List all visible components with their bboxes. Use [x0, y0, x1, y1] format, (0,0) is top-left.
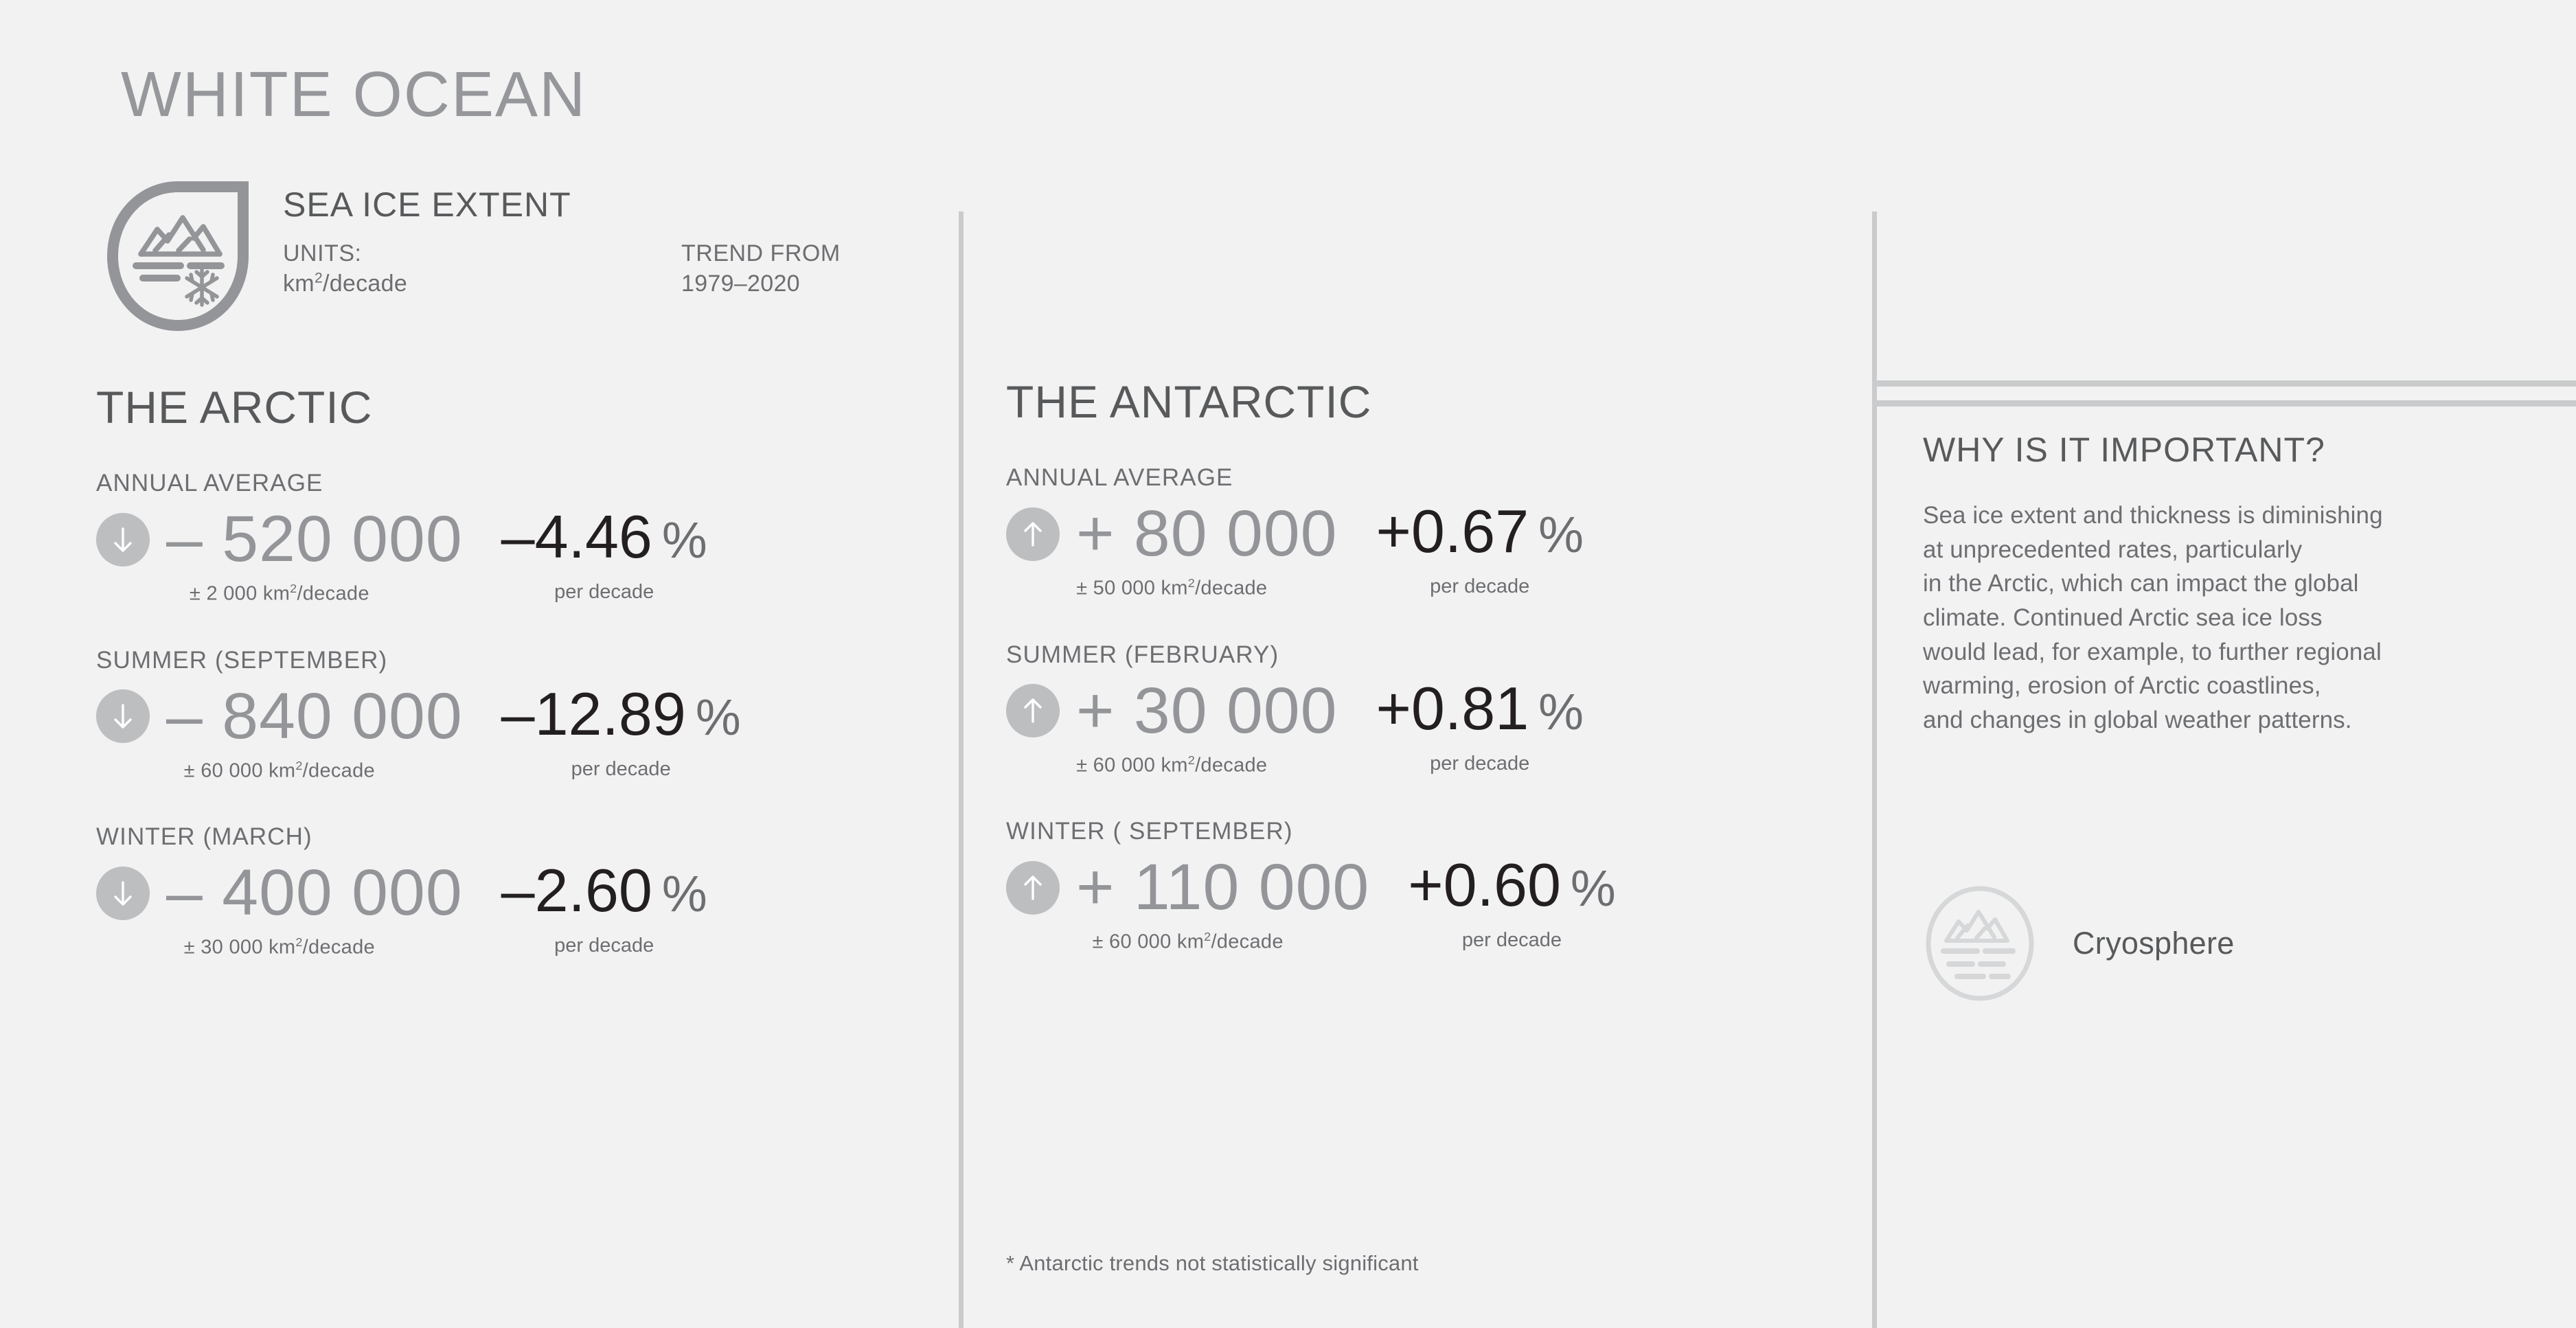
percent-note: per decade [554, 935, 654, 957]
stat-label: ANNUAL AVERAGE [1006, 464, 1837, 492]
info-panel-body: Sea ice extent and thickness is diminish… [1923, 499, 2514, 737]
percent-line: –12.89 % [501, 684, 741, 744]
percent-value: –2.60 [501, 860, 652, 921]
stat-value: – 840 000 [166, 684, 463, 749]
percent-value: +0.67 [1376, 501, 1529, 562]
stat-body: + 80 000 ± 50 000 km2/decade +0.67 % per… [1006, 501, 1837, 600]
margin-prefix: ± 2 000 km [190, 583, 290, 605]
stat-main: – 400 000 ± 30 000 km2/decade [96, 860, 463, 959]
stat-sign: – [166, 856, 203, 929]
percent-note: per decade [1430, 753, 1529, 775]
margin-prefix: ± 50 000 km [1076, 577, 1188, 599]
stat-sign: + [1076, 497, 1115, 570]
stat-percent: –4.46 % per decade [501, 507, 707, 604]
stat-number: 400 000 [222, 856, 462, 929]
stat-main-line: + 30 000 [1006, 678, 1337, 744]
metric-meta-row: UNITS: km2/decade TREND FROM 1979–2020 [283, 238, 956, 300]
margin-prefix: ± 60 000 km [1076, 754, 1188, 776]
arrow-up-icon [1006, 861, 1060, 915]
stat-number: 520 000 [222, 503, 462, 575]
info-panel: WHY IS IT IMPORTANT? Sea ice extent and … [1923, 433, 2514, 737]
stat-main-line: – 840 000 [96, 684, 463, 749]
stat-value: + 30 000 [1076, 678, 1337, 744]
horizontal-rule-bottom [1872, 400, 2576, 407]
percent-value: –12.89 [501, 684, 686, 744]
stat-body: – 520 000 ± 2 000 km2/decade –4.46 % per… [96, 507, 920, 606]
sea-ice-extent-icon [103, 180, 253, 332]
margin-suffix: /decade [1211, 931, 1283, 953]
percent-symbol: % [1571, 863, 1616, 914]
info-panel-title: WHY IS IT IMPORTANT? [1923, 433, 2514, 467]
cryosphere-badge: Cryosphere [1923, 884, 2235, 1003]
percent-symbol: % [696, 692, 741, 743]
units-value-prefix: km [283, 271, 315, 297]
stat-main-line: – 520 000 [96, 507, 463, 572]
stat-label: WINTER ( SEPTEMBER) [1006, 818, 1837, 845]
stat-margin: ± 50 000 km2/decade [1076, 576, 1267, 600]
info-line: at unprecedented rates, particularly [1923, 533, 2514, 567]
stat-percent: +0.81 % per decade [1376, 678, 1583, 775]
info-line: in the Arctic, which can impact the glob… [1923, 566, 2514, 601]
units-label: UNITS: [283, 238, 681, 269]
stat-sign: + [1076, 851, 1115, 924]
cryosphere-icon [1923, 884, 2037, 1003]
margin-sup: 2 [290, 582, 297, 595]
stat-sign: + [1076, 674, 1115, 747]
stat-percent: –12.89 % per decade [501, 684, 741, 781]
stat-label: WINTER (MARCH) [96, 823, 920, 851]
percent-symbol: % [662, 869, 707, 919]
margin-sup: 2 [295, 935, 302, 949]
stat-row: WINTER ( SEPTEMBER) + 110 000 ± 60 000 k… [1006, 818, 1837, 954]
percent-line: +0.60 % [1408, 855, 1615, 915]
footnote: * Antarctic trends not statistically sig… [1006, 1251, 1419, 1276]
margin-prefix: ± 30 000 km [184, 937, 296, 959]
stat-margin: ± 30 000 km2/decade [184, 935, 375, 959]
stat-row: ANNUAL AVERAGE + 80 000 ± 50 000 km2/dec… [1006, 464, 1837, 600]
percent-note: per decade [571, 758, 671, 781]
metric-title: SEA ICE EXTENT [283, 187, 956, 223]
vertical-divider-left [959, 211, 964, 1328]
percent-symbol: % [1538, 510, 1584, 560]
margin-sup: 2 [295, 759, 302, 772]
stat-main-line: + 80 000 [1006, 501, 1337, 566]
arrow-up-icon [1006, 684, 1060, 737]
stat-row: SUMMER (FEBRUARY) + 30 000 ± 60 000 km2/… [1006, 641, 1837, 777]
stat-row: ANNUAL AVERAGE – 520 000 ± 2 000 km2/dec… [96, 470, 920, 606]
info-line: and changes in global weather patterns. [1923, 703, 2514, 737]
region-title-antarctic: THE ANTARCTIC [1006, 379, 1837, 424]
percent-line: –4.46 % [501, 507, 707, 567]
info-line: would lead, for example, to further regi… [1923, 635, 2514, 669]
units-column: UNITS: km2/decade [283, 238, 681, 300]
page-title: WHITE OCEAN [121, 58, 586, 131]
units-value: km2/decade [283, 268, 681, 299]
region-antarctic: THE ANTARCTIC ANNUAL AVERAGE + 80 000 ± … [1006, 379, 1837, 995]
percent-symbol: % [662, 515, 707, 566]
stat-label: SUMMER (FEBRUARY) [1006, 641, 1837, 669]
arrow-down-icon [96, 689, 150, 743]
percent-line: +0.67 % [1376, 501, 1583, 562]
percent-note: per decade [1430, 575, 1529, 598]
stat-number: 80 000 [1134, 497, 1338, 570]
stat-main: + 30 000 ± 60 000 km2/decade [1006, 678, 1337, 777]
infographic-canvas: WHITE OCEAN [0, 0, 2576, 1328]
stat-row: SUMMER (SEPTEMBER) – 840 000 ± 60 000 km… [96, 647, 920, 783]
stat-percent: +0.67 % per decade [1376, 501, 1583, 598]
stat-label: SUMMER (SEPTEMBER) [96, 647, 920, 674]
stat-value: – 520 000 [166, 507, 463, 572]
margin-sup: 2 [1188, 753, 1195, 767]
info-line: warming, erosion of Arctic coastlines, [1923, 669, 2514, 703]
margin-sup: 2 [1188, 576, 1195, 590]
stat-sign: – [166, 503, 203, 575]
info-line: Sea ice extent and thickness is diminish… [1923, 499, 2514, 533]
percent-value: +0.81 [1376, 678, 1529, 739]
trend-column: TREND FROM 1979–2020 [681, 238, 956, 300]
margin-sup: 2 [1204, 930, 1211, 943]
margin-suffix: /decade [297, 583, 369, 605]
stat-number: 110 000 [1134, 851, 1369, 924]
percent-note: per decade [1462, 929, 1562, 952]
arrow-down-icon [96, 513, 150, 566]
vertical-divider-right [1872, 211, 1877, 1328]
stat-main: + 110 000 ± 60 000 km2/decade [1006, 855, 1369, 954]
stat-margin: ± 2 000 km2/decade [190, 582, 369, 606]
stat-value: – 400 000 [166, 860, 463, 926]
stat-value: + 80 000 [1076, 501, 1337, 566]
arrow-down-icon [96, 867, 150, 920]
margin-suffix: /decade [303, 759, 375, 781]
arrow-up-icon [1006, 507, 1060, 561]
percent-line: –2.60 % [501, 860, 707, 921]
region-title-arctic: THE ARCTIC [96, 385, 920, 430]
margin-suffix: /decade [303, 937, 375, 959]
stat-main: – 520 000 ± 2 000 km2/decade [96, 507, 463, 606]
stat-margin: ± 60 000 km2/decade [1092, 930, 1283, 954]
stat-value: + 110 000 [1076, 855, 1369, 920]
stat-main-line: + 110 000 [1006, 855, 1369, 920]
margin-prefix: ± 60 000 km [1092, 931, 1204, 953]
stat-main: + 80 000 ± 50 000 km2/decade [1006, 501, 1337, 600]
trend-label: TREND FROM [681, 238, 956, 269]
margin-suffix: /decade [1195, 754, 1267, 776]
percent-symbol: % [1538, 687, 1584, 737]
stat-percent: +0.60 % per decade [1408, 855, 1615, 952]
stat-margin: ± 60 000 km2/decade [184, 759, 375, 783]
stat-body: + 30 000 ± 60 000 km2/decade +0.81 % per… [1006, 678, 1837, 777]
percent-value: +0.60 [1408, 855, 1561, 915]
stat-body: – 840 000 ± 60 000 km2/decade –12.89 % p… [96, 684, 920, 783]
stat-row: WINTER (MARCH) – 400 000 ± 30 000 km2/de… [96, 823, 920, 959]
stat-label: ANNUAL AVERAGE [96, 470, 920, 497]
stat-margin: ± 60 000 km2/decade [1076, 753, 1267, 777]
margin-suffix: /decade [1195, 577, 1267, 599]
stat-number: 30 000 [1134, 674, 1338, 747]
info-line: climate. Continued Arctic sea ice loss [1923, 601, 2514, 635]
trend-value: 1979–2020 [681, 268, 956, 299]
percent-value: –4.46 [501, 507, 652, 567]
stat-percent: –2.60 % per decade [501, 860, 707, 957]
stat-sign: – [166, 680, 203, 753]
units-value-suffix: /decade [323, 271, 407, 297]
stat-number: 840 000 [222, 680, 462, 753]
stat-body: – 400 000 ± 30 000 km2/decade –2.60 % pe… [96, 860, 920, 959]
metric-header-block: SEA ICE EXTENT UNITS: km2/decade TREND F… [283, 187, 956, 299]
horizontal-rule-top [1872, 380, 2576, 387]
units-value-sup: 2 [315, 271, 323, 286]
region-arctic: THE ARCTIC ANNUAL AVERAGE – 520 000 ± 2 … [96, 385, 920, 1000]
percent-line: +0.81 % [1376, 678, 1583, 739]
percent-note: per decade [554, 581, 654, 604]
stat-body: + 110 000 ± 60 000 km2/decade +0.60 % pe… [1006, 855, 1837, 954]
cryosphere-label: Cryosphere [2073, 926, 2235, 961]
margin-prefix: ± 60 000 km [184, 759, 296, 781]
stat-main: – 840 000 ± 60 000 km2/decade [96, 684, 463, 783]
stat-main-line: – 400 000 [96, 860, 463, 926]
